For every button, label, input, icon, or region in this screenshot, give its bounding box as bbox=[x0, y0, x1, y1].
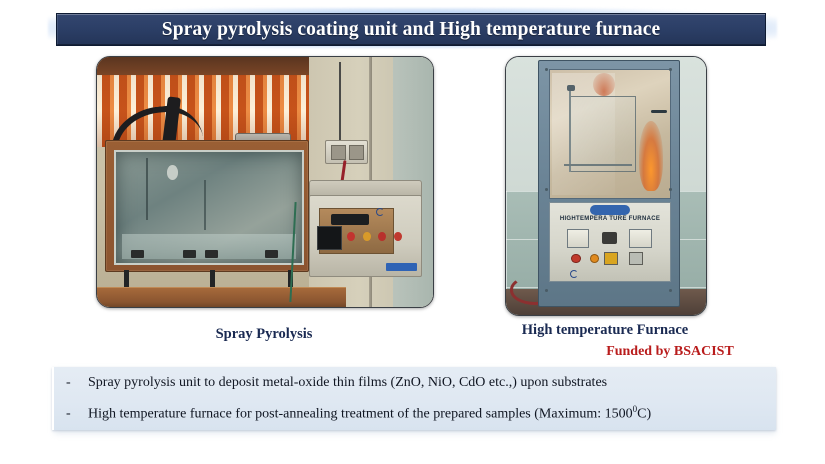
chamber-glass-window bbox=[114, 150, 303, 266]
panel-bolt bbox=[669, 188, 672, 191]
control-unit-spray-head bbox=[331, 214, 369, 225]
vertical-support-rod bbox=[569, 88, 571, 172]
crescent-brand-logo bbox=[570, 270, 578, 279]
curtain-rail bbox=[97, 57, 309, 75]
furnace-panel-label: HIGHTEMPERA TURE FURNACE bbox=[550, 216, 670, 222]
chamber-clamp bbox=[265, 250, 278, 258]
spray-pyrolysis-scene bbox=[97, 57, 433, 307]
panel-bolt bbox=[669, 289, 672, 292]
slide-title-bar: Spray pyrolysis coating unit and High te… bbox=[56, 13, 766, 46]
main-rotary-switch[interactable] bbox=[602, 232, 618, 245]
amber-indicator-led bbox=[590, 254, 599, 263]
furnace-scene: HIGHTEMPERA TURE FURNACE bbox=[506, 57, 706, 315]
control-unit bbox=[309, 195, 422, 277]
control-unit-blue-label bbox=[386, 263, 417, 271]
furnace-upper-glow bbox=[593, 73, 615, 96]
list-item: - High temperature furnace for post-anne… bbox=[54, 398, 776, 429]
panel-bolt bbox=[669, 68, 672, 71]
wall-power-socket bbox=[325, 140, 367, 165]
list-item: - Spray pyrolysis unit to deposit metal-… bbox=[54, 367, 776, 398]
brand-badge bbox=[590, 205, 631, 215]
bullet-list-box: - Spray pyrolysis unit to deposit metal-… bbox=[52, 367, 776, 430]
figure-spray-pyrolysis-photo bbox=[96, 56, 434, 308]
bullet-marker: - bbox=[66, 375, 88, 391]
wooden-bench bbox=[97, 287, 346, 308]
red-indicator-led bbox=[571, 254, 580, 263]
right-analog-meter bbox=[629, 229, 651, 248]
chamber-clamp bbox=[131, 250, 144, 258]
furnace-flame-glow bbox=[639, 121, 663, 191]
deposition-chamber-frame bbox=[105, 140, 309, 272]
figure-high-temperature-furnace-photo: HIGHTEMPERA TURE FURNACE bbox=[505, 56, 707, 316]
page-title: Spray pyrolysis coating unit and High te… bbox=[162, 19, 660, 41]
red-button[interactable] bbox=[347, 232, 355, 242]
furnace-control-panel: HIGHTEMPERA TURE FURNACE bbox=[549, 202, 671, 282]
rod-clamp-knob bbox=[567, 85, 575, 90]
chamber-inner-rod-2 bbox=[204, 180, 206, 230]
chamber-nozzle-reflection bbox=[167, 165, 178, 180]
bullet-marker: - bbox=[66, 406, 88, 422]
bullet-text-1: Spray pyrolysis unit to deposit metal-ox… bbox=[88, 375, 607, 391]
left-analog-meter bbox=[567, 229, 589, 248]
bullet-text-2: High temperature furnace for post-anneal… bbox=[88, 404, 651, 423]
furnace-door-handle[interactable] bbox=[651, 110, 667, 114]
panel-bolt bbox=[545, 188, 548, 191]
red-button[interactable] bbox=[394, 232, 402, 242]
furnace-body-frame: HIGHTEMPERA TURE FURNACE bbox=[538, 60, 680, 307]
furnace-tube-assembly bbox=[569, 96, 636, 172]
crescent-brand-logo bbox=[376, 208, 414, 221]
caption-spray-pyrolysis: Spray Pyrolysis bbox=[96, 326, 432, 343]
amber-button[interactable] bbox=[363, 232, 371, 242]
panel-selector-button[interactable] bbox=[629, 252, 643, 265]
emergency-stop-button[interactable] bbox=[604, 252, 618, 265]
chamber-inner-rod bbox=[146, 158, 148, 219]
chamber-clamp bbox=[183, 250, 196, 258]
temperature-display bbox=[317, 226, 341, 250]
funding-note: Funded by BSACIST bbox=[555, 344, 785, 360]
wall-pipe bbox=[339, 62, 341, 142]
crescent-logo-mark bbox=[570, 270, 578, 278]
caption-high-temperature-furnace: High temperature Furnace bbox=[495, 322, 715, 339]
crescent-logo-mark bbox=[376, 208, 384, 216]
panel-bolt bbox=[545, 289, 548, 292]
panel-bolt bbox=[545, 68, 548, 71]
chamber-clamp bbox=[205, 250, 218, 258]
horizontal-support-rod bbox=[564, 164, 631, 166]
furnace-viewing-window bbox=[549, 69, 671, 198]
